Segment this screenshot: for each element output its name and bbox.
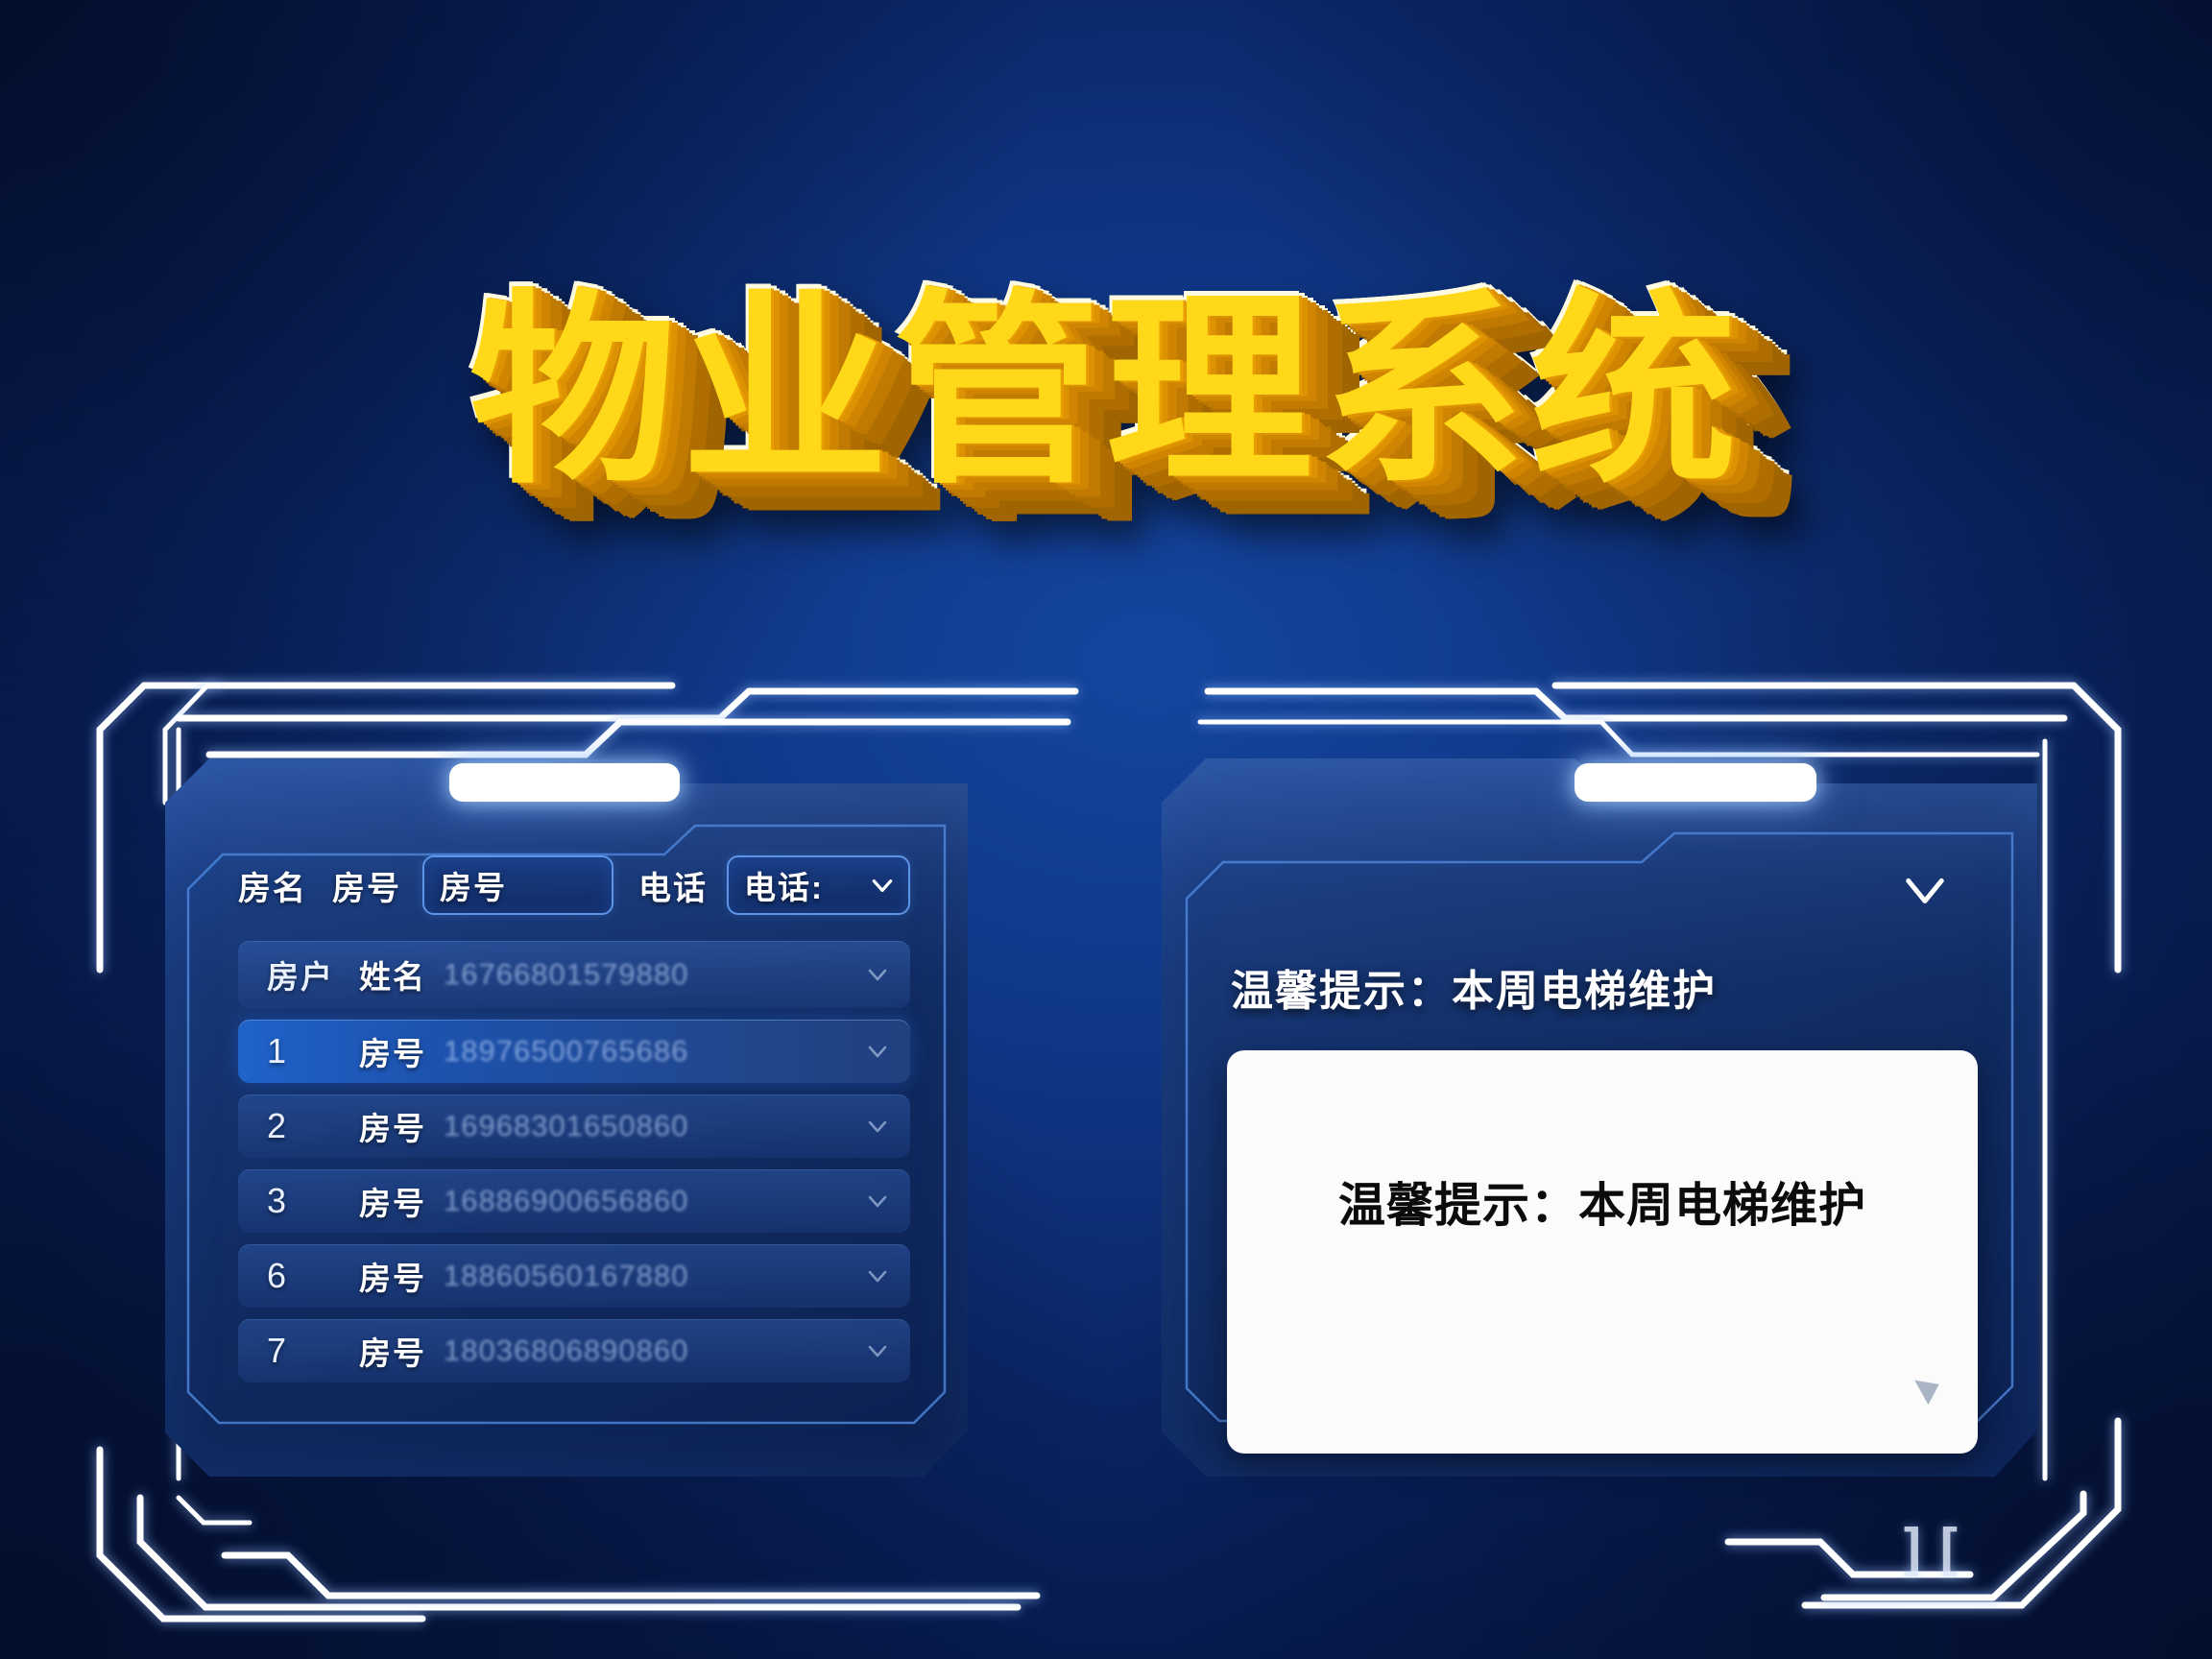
corner-bracket-glyph: ][ <box>1896 1517 1967 1582</box>
hud-left-inner-bottom <box>179 1498 250 1523</box>
row-label: 房号 <box>359 1028 426 1074</box>
row-label: 房号 <box>359 1178 426 1224</box>
hud-left-bottom-rail <box>225 1555 1037 1596</box>
table-row[interactable]: 7 房号 18036806890860 <box>238 1319 910 1382</box>
page-title-wrap: 物业管理系统 <box>0 288 2212 494</box>
chevron-down-icon[interactable] <box>866 1190 889 1213</box>
resident-list: 房户 姓名 16766801579880 1 房号 18976500765686… <box>238 941 910 1382</box>
screen: 物业管理系统 房名 房号 <box>0 0 2212 1659</box>
list-header-value: 16766801579880 <box>444 957 866 992</box>
phone-select[interactable]: 电话: <box>727 855 910 915</box>
hud-left-top-rail <box>179 691 1075 718</box>
row-value: 18976500765686 <box>444 1034 866 1069</box>
row-index: 3 <box>267 1181 359 1221</box>
row-value: 18036806890860 <box>444 1334 866 1368</box>
room-no-input[interactable]: 房号 <box>422 855 613 915</box>
row-index: 1 <box>267 1031 359 1071</box>
hud-right-top-rail <box>1208 691 2064 718</box>
notice-card-text: 温馨提示：本周电梯维护 <box>1338 1167 1866 1236</box>
room-no-label: 房号 <box>332 862 401 909</box>
row-value: 16886900656860 <box>444 1184 866 1218</box>
row-index: 2 <box>267 1106 359 1146</box>
page-title: 物业管理系统 <box>469 288 1743 494</box>
row-label: 房号 <box>359 1253 426 1299</box>
table-row[interactable]: 6 房号 18860560167880 <box>238 1244 910 1308</box>
hud-left-mid-bracket <box>140 1498 1018 1607</box>
resize-handle-icon[interactable] <box>1911 1375 1943 1407</box>
chevron-down-icon[interactable] <box>866 963 889 986</box>
room-no-input-value: 房号 <box>440 862 507 908</box>
hud-right-panel-top-edge <box>1200 722 2037 755</box>
notice-title: 温馨提示：本周电梯维护 <box>1231 956 2001 1018</box>
chevron-down-icon[interactable] <box>866 1339 889 1362</box>
list-header-row: 房户 姓名 16766801579880 <box>238 941 910 1008</box>
table-row[interactable]: 3 房号 16886900656860 <box>238 1169 910 1233</box>
chevron-down-icon <box>870 873 895 898</box>
phone-label: 电话 <box>638 862 708 909</box>
room-name-label: 房名 <box>238 862 307 909</box>
search-form-row: 房名 房号 房号 电话 电话: <box>238 854 910 916</box>
notice-card[interactable]: 温馨提示：本周电梯维护 <box>1227 1050 1978 1454</box>
row-label: 房号 <box>359 1328 426 1374</box>
chevron-down-icon[interactable] <box>866 1115 889 1138</box>
row-value: 18860560167880 <box>444 1259 866 1293</box>
row-index: 7 <box>267 1331 359 1371</box>
list-header-label: 姓名 <box>359 951 426 998</box>
right-panel-notch <box>1575 763 1816 802</box>
left-panel-notch <box>449 763 680 802</box>
phone-select-value: 电话: <box>744 862 824 908</box>
chevron-down-icon[interactable] <box>866 1040 889 1063</box>
hud-left-panel-top-edge <box>209 722 1068 755</box>
row-index: 6 <box>267 1256 359 1296</box>
list-header-index: 房户 <box>267 951 359 998</box>
table-row[interactable]: 2 房号 16968301650860 <box>238 1094 910 1158</box>
table-row[interactable]: 1 房号 18976500765686 <box>238 1020 910 1083</box>
row-label: 房号 <box>359 1103 426 1149</box>
right-panel-content: 温馨提示：本周电梯维护 温馨提示：本周电梯维护 <box>1204 845 2001 1454</box>
row-value: 16968301650860 <box>444 1109 866 1143</box>
chevron-down-icon[interactable] <box>866 1264 889 1287</box>
chevron-down-icon[interactable] <box>1903 868 1947 912</box>
left-panel-content: 房名 房号 房号 电话 电话: 房户 姓名 16766801579880 <box>238 854 910 1382</box>
